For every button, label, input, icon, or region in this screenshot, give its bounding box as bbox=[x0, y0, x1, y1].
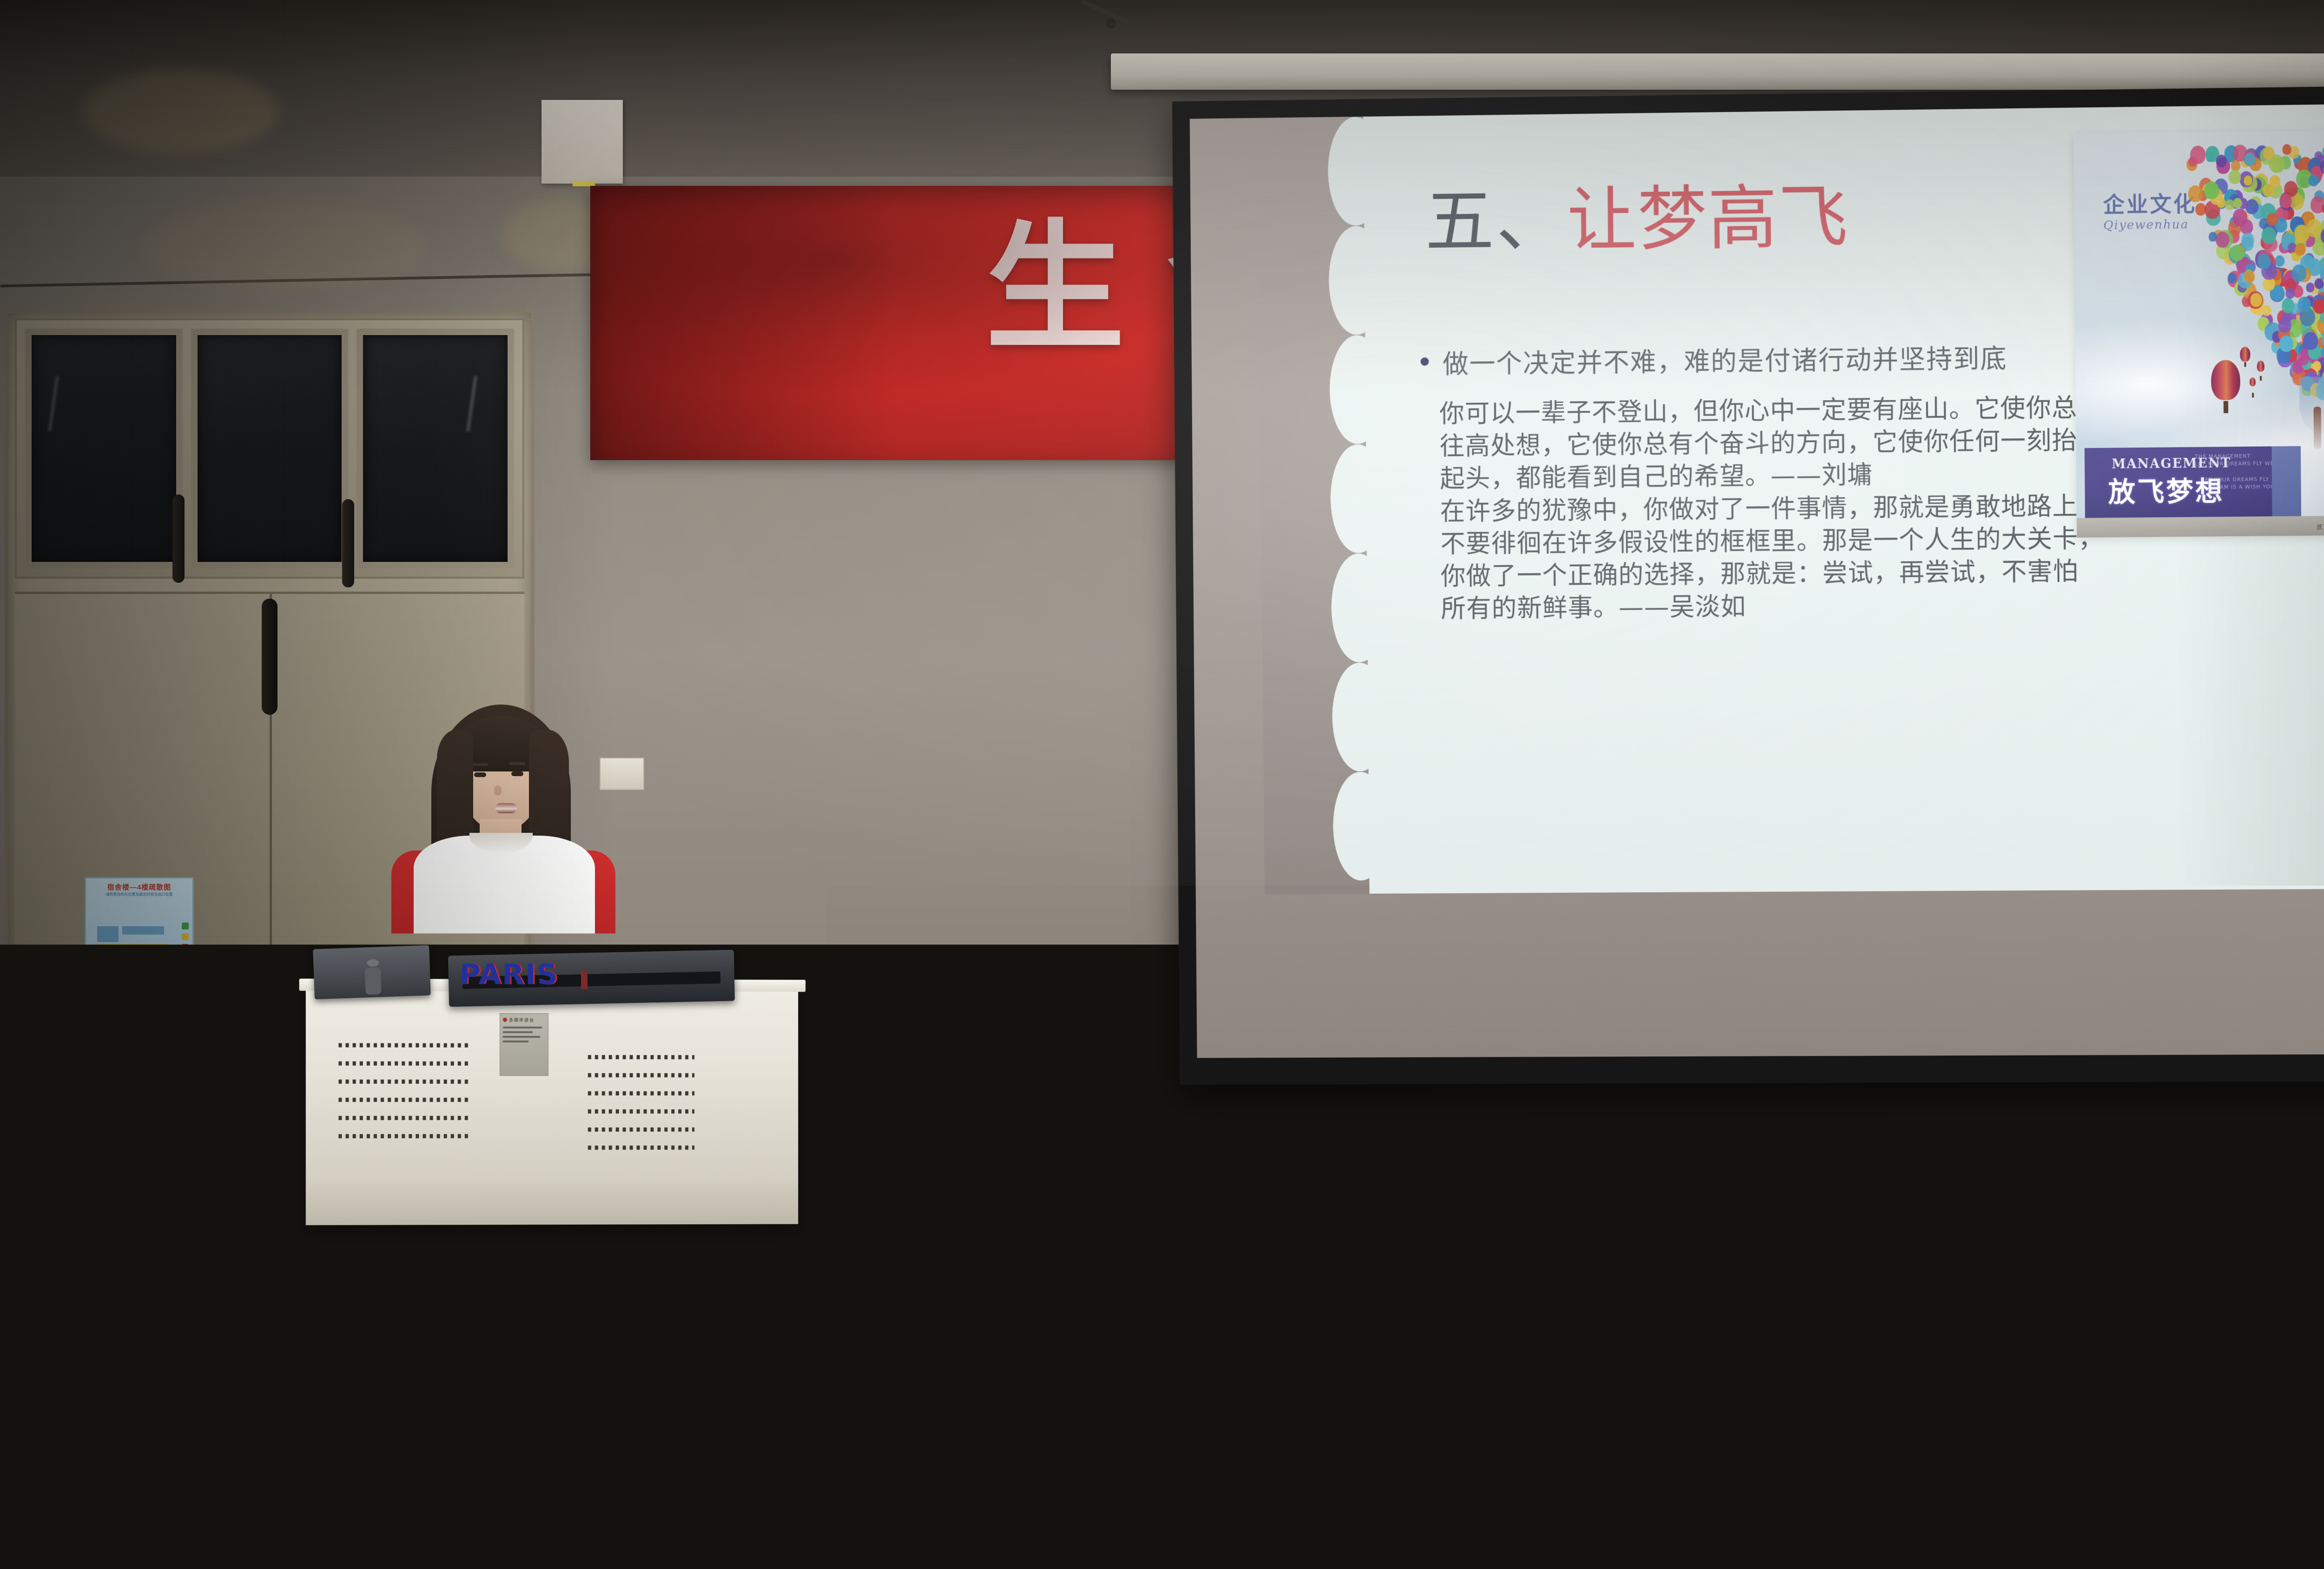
wall-stain-1 bbox=[84, 70, 279, 153]
picture-banner-tiny-4: A DREAM IS A WISH YOUR HEART MAKES bbox=[2202, 483, 2272, 490]
bullet-dot-icon bbox=[1420, 357, 1429, 366]
hot-air-balloon-small-1 bbox=[2240, 347, 2250, 362]
picture-banner-tiny-1: THE MANAGEMENT bbox=[2195, 453, 2251, 460]
balloon bbox=[2244, 152, 2256, 166]
balloon bbox=[2270, 175, 2280, 187]
seat-divider bbox=[1289, 1255, 1298, 1327]
ceiling-cable-clip bbox=[1106, 19, 1116, 29]
balloon bbox=[2188, 157, 2197, 167]
eyeglasses bbox=[1367, 1220, 1401, 1231]
slide-body-line: 所有的新鲜事。——吴淡如 bbox=[1441, 586, 2324, 626]
balloon bbox=[2231, 159, 2240, 171]
balloon bbox=[2262, 227, 2276, 244]
seat-divider bbox=[1314, 1106, 1324, 1162]
balloon bbox=[2278, 317, 2291, 333]
balloon bbox=[2267, 213, 2278, 226]
balloon bbox=[2188, 185, 2203, 202]
picture-footer-strip: 放飞梦想 dreams at the destination bbox=[2077, 515, 2324, 538]
balloon bbox=[2233, 198, 2242, 208]
seat-divider bbox=[493, 1348, 502, 1429]
balloon bbox=[2294, 224, 2310, 242]
balloon bbox=[2230, 244, 2245, 261]
glass-glint bbox=[466, 376, 478, 432]
seat-divider bbox=[1649, 1106, 1658, 1162]
audience-head bbox=[360, 1061, 408, 1115]
audience-seating bbox=[0, 1069, 2324, 1569]
podium-plate-title: 多媒体讲台 bbox=[509, 1017, 535, 1023]
balloon bbox=[2314, 278, 2324, 289]
projection-screen-frame: 五、让梦高飞 做一个决定并不难，难的是付诸行动并坚持到底 你可以一辈子不登山，但… bbox=[1172, 85, 2324, 1085]
balloon bbox=[2264, 146, 2275, 160]
picture-banner-tiny-2: LET YOUR DREAMS FLY WE SPECTACULAR LIFE bbox=[2195, 460, 2272, 467]
hot-air-balloon-main bbox=[2211, 360, 2240, 400]
lecture-hall-photo: 宿舍楼—4楼疏散图 请熟悉您所在位置及最近的安全出口位置 bbox=[0, 0, 2324, 1569]
seat-divider bbox=[1786, 1348, 1796, 1429]
balloon bbox=[2282, 298, 2294, 313]
presenter-eyebrow-right bbox=[509, 762, 525, 765]
picture-purple-banner: MANAGEMENT 放飞梦想 THE MANAGEMENT LET YOUR … bbox=[2085, 446, 2272, 519]
balloon-cluster bbox=[2180, 142, 2324, 406]
seat-divider bbox=[1482, 1106, 1491, 1162]
slide-title-number: 五、 bbox=[1425, 180, 1567, 263]
balloon bbox=[2280, 194, 2292, 208]
balloon bbox=[2250, 293, 2262, 307]
audience-head bbox=[1552, 1061, 1591, 1110]
seat-divider bbox=[165, 1176, 175, 1239]
balloon bbox=[2313, 299, 2324, 314]
evacuation-legend-icons bbox=[182, 923, 189, 962]
balloon bbox=[2244, 270, 2255, 283]
slide-image-balloons: 企业文化 Qiyewenhua BALLOONS ABOVE BRIGHT SK… bbox=[2073, 129, 2324, 538]
window-latch-handle-1[interactable] bbox=[172, 494, 185, 583]
door-window-pane-2 bbox=[191, 329, 349, 568]
balloon bbox=[2227, 272, 2237, 283]
seat-divider bbox=[1114, 1176, 1123, 1239]
balloon bbox=[2309, 174, 2319, 186]
slide-wavy-left-edge bbox=[1259, 117, 1370, 894]
balloon bbox=[2241, 232, 2254, 247]
door-transom-windows bbox=[15, 318, 524, 579]
balloon bbox=[2215, 231, 2229, 248]
seat-divider bbox=[2062, 1176, 2071, 1239]
evacuation-floorplan bbox=[94, 923, 169, 993]
evacuation-map-poster: 宿舍楼—4楼疏散图 请熟悉您所在位置及最近的安全出口位置 bbox=[85, 877, 194, 1007]
balloon bbox=[2306, 282, 2315, 292]
presenter-eye-right bbox=[511, 771, 523, 776]
balloon bbox=[2298, 352, 2309, 366]
presenter-shirt-text: PARIS bbox=[450, 958, 568, 991]
balloon bbox=[2275, 255, 2284, 267]
seat-divider bbox=[195, 1255, 204, 1327]
seat-divider bbox=[1726, 1255, 1736, 1327]
glass-glint bbox=[48, 376, 59, 432]
seat-divider bbox=[1984, 1106, 1993, 1162]
seat-divider bbox=[1303, 1176, 1313, 1239]
presenter-mouth bbox=[495, 803, 517, 813]
balloon bbox=[2262, 305, 2272, 316]
balloon bbox=[2216, 155, 2226, 168]
seat-divider bbox=[355, 1176, 364, 1239]
balloon bbox=[2208, 231, 2217, 242]
seat-divider bbox=[1507, 1255, 1517, 1327]
evacuation-poster-subtitle: 请熟悉您所在位置及最近的安全出口位置 bbox=[86, 892, 192, 897]
projection-screen-case: 帐台诗 投影幕 bbox=[1111, 53, 2324, 90]
hot-air-balloon-small-3 bbox=[2250, 377, 2256, 386]
seat-divider bbox=[1872, 1176, 1882, 1239]
seat-divider bbox=[980, 1106, 989, 1162]
podium-plate-logo-icon bbox=[503, 1018, 507, 1022]
podium-plate-body bbox=[503, 1027, 545, 1042]
door-window-pane-1 bbox=[25, 329, 183, 568]
balloon bbox=[2303, 332, 2318, 350]
hot-air-balloon-small-2 bbox=[2257, 361, 2265, 372]
seat-divider bbox=[234, 1348, 244, 1429]
audience-head bbox=[199, 1060, 250, 1118]
balloon bbox=[2285, 288, 2295, 298]
hanging-figure bbox=[2313, 407, 2321, 449]
eyeglasses bbox=[66, 1229, 101, 1239]
seat-divider bbox=[143, 1106, 152, 1162]
door-handle[interactable] bbox=[262, 599, 277, 715]
balloon bbox=[2295, 243, 2305, 256]
balloon bbox=[2232, 208, 2247, 226]
balloon bbox=[2204, 181, 2219, 199]
audience-head bbox=[1704, 1065, 1754, 1118]
evacuation-poster-title: 宿舍楼—4楼疏散图 bbox=[86, 878, 192, 892]
foreground-floor-shadow bbox=[0, 1430, 2324, 1569]
presenter-nose bbox=[494, 785, 502, 796]
presenter: PARIS bbox=[381, 697, 623, 1013]
balloon bbox=[2279, 335, 2293, 352]
balloon bbox=[2291, 264, 2306, 282]
slide-bullet-text: 做一个决定并不难，难的是付诸行动并坚持到底 bbox=[1443, 337, 2007, 381]
balloon bbox=[2258, 254, 2271, 269]
audience-head bbox=[687, 1061, 737, 1113]
seat-divider bbox=[1147, 1106, 1156, 1162]
seat-divider bbox=[310, 1106, 320, 1162]
audience-head bbox=[1369, 1066, 1420, 1122]
balloon bbox=[2244, 176, 2252, 186]
seat-divider bbox=[414, 1255, 423, 1327]
wall-mounted-box bbox=[541, 100, 623, 184]
seat-divider bbox=[1945, 1255, 1954, 1327]
seat-divider bbox=[1527, 1348, 1537, 1429]
seat-divider bbox=[1816, 1106, 1826, 1162]
seat-divider bbox=[1070, 1255, 1079, 1327]
wall-stain-3 bbox=[139, 200, 428, 293]
balloon bbox=[2282, 144, 2291, 155]
balloon bbox=[2229, 170, 2241, 184]
presenter-eye-left bbox=[474, 772, 486, 777]
presenter-eyebrow-left bbox=[472, 763, 488, 766]
picture-banner-tiny-3: LET YOUR DREAMS FLY bbox=[2202, 476, 2270, 483]
eyeglasses bbox=[885, 1086, 920, 1096]
picture-banner-edge bbox=[2271, 446, 2301, 517]
projection-screen-surface: 五、让梦高飞 做一个决定并不难，难的是付诸行动并坚持到底 你可以一辈子不登山，但… bbox=[1190, 102, 2324, 1058]
slide-title: 五、让梦高飞 bbox=[1425, 183, 1849, 257]
audience-head bbox=[1199, 1062, 1244, 1115]
podium-plate-header: 多媒体讲台 bbox=[503, 1017, 545, 1023]
picture-footer-text: 放飞梦想 dreams at the destination bbox=[2317, 522, 2324, 531]
laptop-camera-icon bbox=[367, 959, 379, 967]
laptop-stand bbox=[365, 967, 382, 995]
presentation-slide: 五、让梦高飞 做一个决定并不难，难的是付诸行动并坚持到底 你可以一辈子不登山，但… bbox=[1259, 103, 2324, 894]
seat-divider bbox=[1269, 1348, 1278, 1429]
seat-divider bbox=[1493, 1176, 1502, 1239]
window-latch-handle-2[interactable] bbox=[342, 499, 354, 587]
balloon bbox=[2298, 297, 2311, 312]
seat-divider bbox=[752, 1348, 761, 1429]
face-mask bbox=[372, 1089, 396, 1106]
slide-title-main: 让梦高飞 bbox=[1567, 177, 1849, 261]
slide-bullet-item: 做一个决定并不难，难的是付诸行动并坚持到底 bbox=[1420, 337, 2007, 381]
seat-divider bbox=[1683, 1176, 1692, 1239]
seat-divider bbox=[1010, 1348, 1019, 1429]
eyeglasses bbox=[1750, 1143, 1784, 1154]
door-window-pane-3 bbox=[357, 329, 514, 568]
